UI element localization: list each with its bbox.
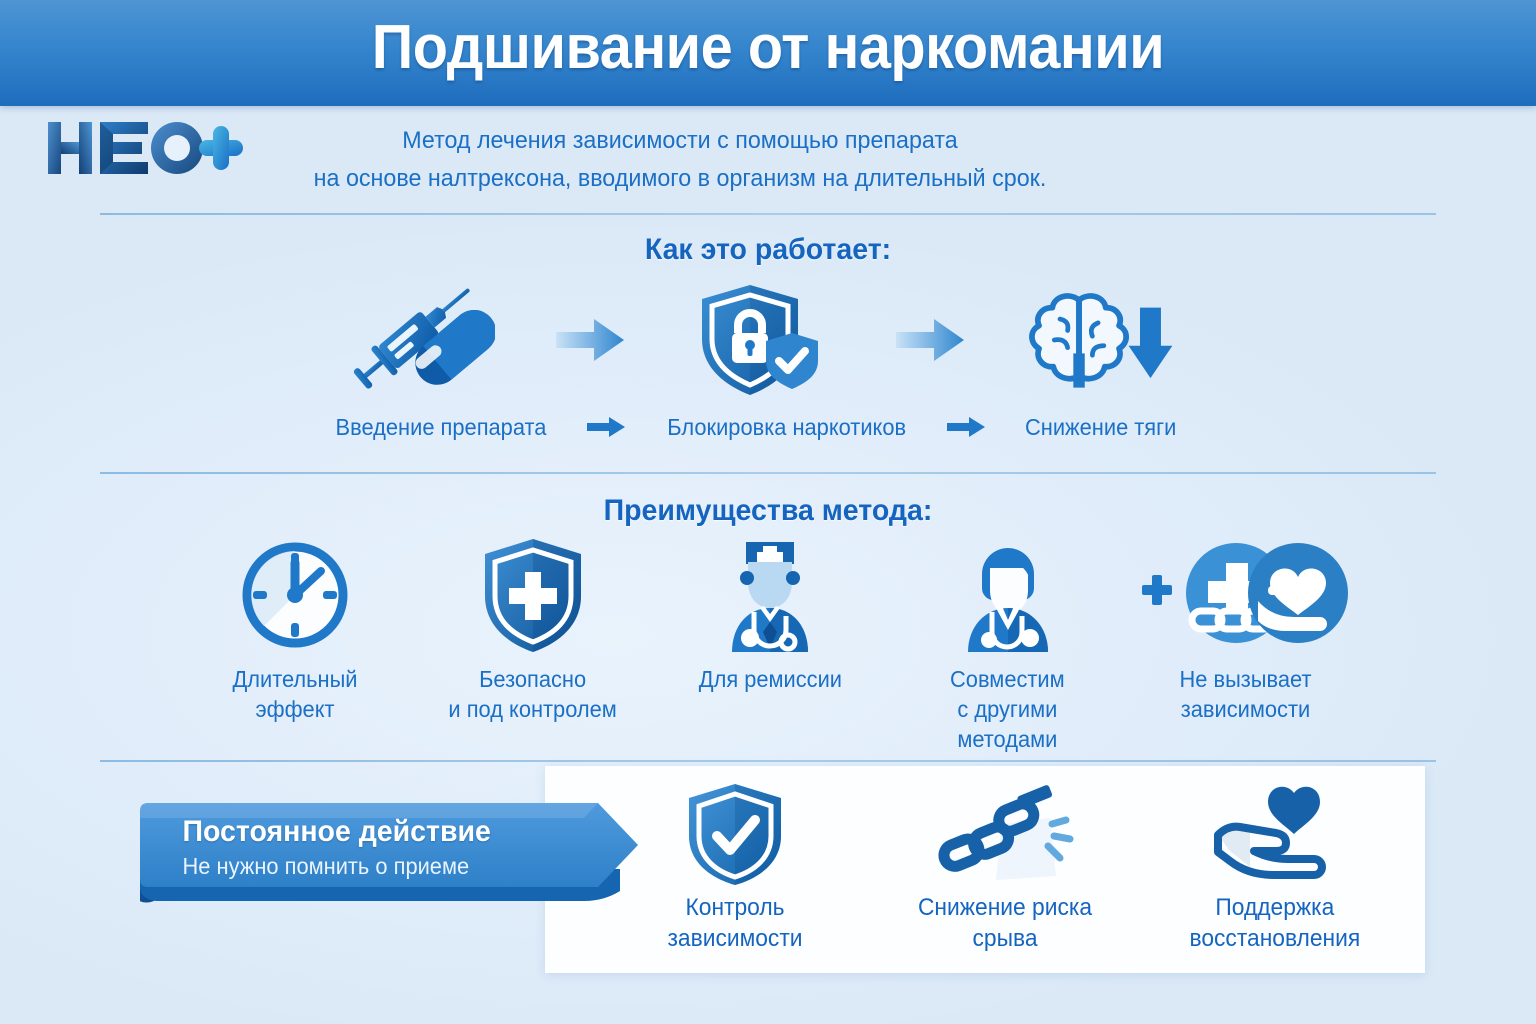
subtitle-line-1: Метод лечения зависимости с помощью преп… xyxy=(402,127,957,154)
benefit-item: Длительный эффект xyxy=(190,536,400,724)
benefit-item: Безопасно и под контролем xyxy=(428,536,638,724)
subtitle-line-2: на основе налтрексона, вводимого в орган… xyxy=(292,160,1068,198)
divider-middle xyxy=(100,472,1436,474)
ribbon-title: Постоянное действие xyxy=(183,815,582,849)
bottom-item: Снижение риска срыва xyxy=(880,782,1130,954)
plus-chain-hand-heart-icon xyxy=(1140,536,1350,654)
broken-chain-icon xyxy=(930,782,1080,886)
syringe-pill-icon xyxy=(340,280,500,400)
how-it-works-flow xyxy=(340,280,1180,400)
clock-icon xyxy=(239,536,351,654)
benefits-heading: Преимущества метода: xyxy=(38,494,1497,528)
benefit-label-line: Совместим xyxy=(950,664,1065,694)
hand-heart-icon xyxy=(1212,782,1338,886)
benefit-item: Для ремиссии xyxy=(665,536,875,694)
label-arrow-1-icon xyxy=(583,417,629,437)
benefit-label: Безопасно и под контролем xyxy=(448,664,616,724)
benefit-label-line: методами xyxy=(950,724,1065,754)
subtitle-block: Метод лечения зависимости с помощью преп… xyxy=(292,122,1068,198)
benefit-item: Совместим с другими методами xyxy=(903,536,1113,754)
benefit-label-line: Не вызывает xyxy=(1179,664,1311,694)
benefit-label: Не вызывает зависимости xyxy=(1179,664,1311,724)
infographic-poster: Подшивание от наркомании xyxy=(0,0,1536,1024)
benefit-label: Совместим с другими методами xyxy=(950,664,1065,754)
benefit-label-line: Длительный эффект xyxy=(232,666,357,722)
label-arrow-2-icon xyxy=(943,417,989,437)
benefit-item: Не вызывает зависимости xyxy=(1140,536,1350,724)
bottom-item-label-line: Контроль зависимости xyxy=(667,894,802,952)
logo-letter-n xyxy=(48,122,92,174)
flow-arrow-1-icon xyxy=(550,310,630,370)
logo-plus-icon xyxy=(199,126,243,170)
bottom-item-label-line: восстановления xyxy=(1190,923,1361,954)
benefits-row: Длительный эффект Безоп xyxy=(190,536,1350,746)
logo-letter-o xyxy=(151,122,203,174)
page-title: Подшивание от наркомании xyxy=(54,12,1482,83)
bottom-item-label-line: Поддержка xyxy=(1190,892,1361,923)
benefit-label-line: Для ремиссии xyxy=(698,666,841,692)
benefit-label-line: с другими xyxy=(950,694,1065,724)
benefit-label: Для ремиссии xyxy=(698,664,841,694)
how-it-works-labels: Введение препарата Блокировка наркотиков… xyxy=(330,410,1180,444)
divider-bottom xyxy=(100,760,1436,762)
header-bar: Подшивание от наркомании xyxy=(0,0,1536,106)
benefit-label-line: зависимости xyxy=(1179,694,1311,724)
bottom-item-label: Поддержка восстановления xyxy=(1190,892,1361,954)
step-label-3: Снижение тяги xyxy=(1025,414,1176,441)
benefit-label-line: Безопасно xyxy=(448,664,616,694)
plus-sign-icon xyxy=(1142,575,1172,605)
bottom-item: Поддержка восстановления xyxy=(1150,782,1400,954)
step-label-2: Блокировка наркотиков xyxy=(667,414,906,441)
logo-letter-e xyxy=(100,122,148,174)
ribbon-subtitle: Не нужно помнить о приеме xyxy=(183,853,582,880)
step-label-1: Введение препарата xyxy=(336,414,547,441)
benefit-label-line: и под контролем xyxy=(448,694,616,724)
brain-down-arrow-icon xyxy=(1020,280,1180,400)
divider-top xyxy=(100,213,1436,215)
shield-lock-icon xyxy=(680,280,840,400)
logo-neo-plus xyxy=(44,118,244,180)
how-it-works-heading: Как это работает: xyxy=(38,233,1497,267)
benefit-label: Длительный эффект xyxy=(195,664,395,724)
shield-cross-icon xyxy=(481,536,585,654)
bottom-items-row: Контроль зависимости xyxy=(600,782,1410,962)
bottom-item-label-line: Снижение риска срыва xyxy=(918,894,1092,952)
person-stethoscope-icon xyxy=(954,536,1062,654)
doctor-icon xyxy=(716,536,824,654)
shield-check-icon xyxy=(683,782,787,886)
flow-arrow-2-icon xyxy=(890,310,970,370)
arrow-down-icon xyxy=(1129,308,1173,378)
bottom-item-label: Снижение риска срыва xyxy=(886,892,1124,954)
ribbon-text-block: Постоянное действие Не нужно помнить о п… xyxy=(183,815,582,880)
